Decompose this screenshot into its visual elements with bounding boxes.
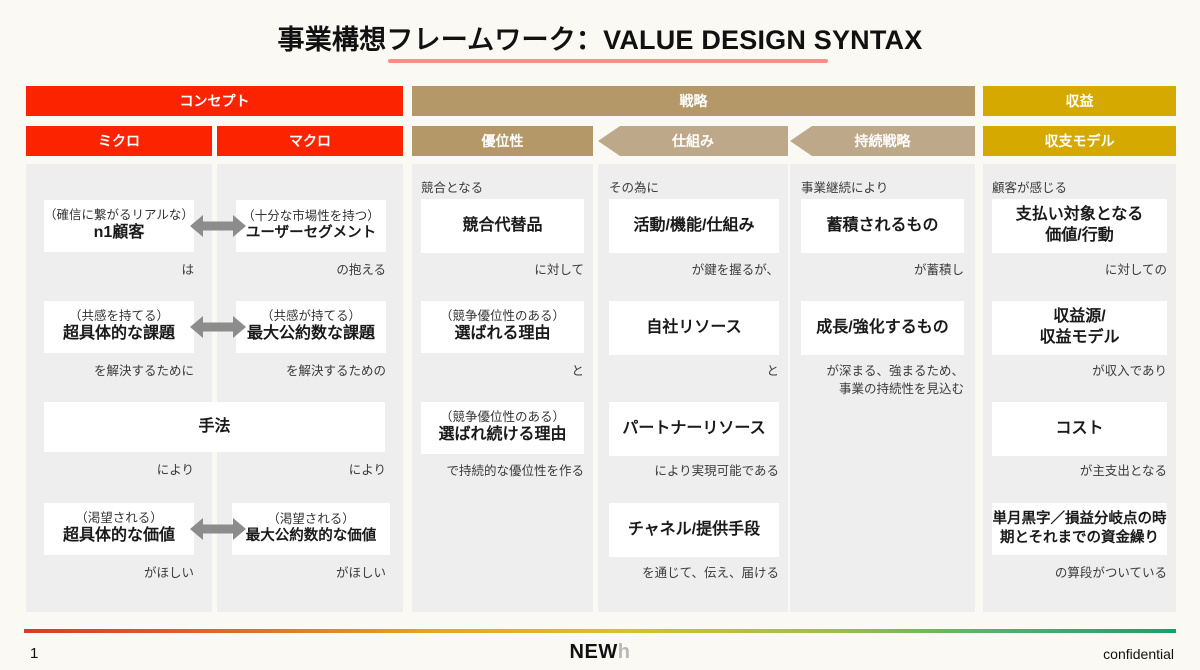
subheader-mechanism[interactable]: 仕組み [598, 126, 788, 156]
card-supplement: （競争優位性のある） [440, 309, 565, 325]
card-supplement: （十分な市場性を持つ） [242, 209, 380, 225]
brand-logo-accent: h [618, 641, 631, 663]
subheader-pl-model[interactable]: 収支モデル [983, 126, 1176, 156]
toplabel-advantage: 競合となる [421, 177, 483, 196]
card-supplement: （渇望される） [75, 511, 163, 527]
caption-sustain-2-line2: 事業の持続性を見込む [796, 381, 964, 398]
slide-canvas: 事業構想フレームワーク：VALUE DESIGN SYNTAX コンセプト 戦略… [0, 0, 1200, 670]
card-sustain-growth[interactable]: 成長/強化するもの [801, 301, 964, 355]
caption-mechanism-2: と [609, 363, 779, 380]
card-pl-payment-value[interactable]: 支払い対象となる 価値/行動 [992, 199, 1167, 253]
card-title-line2: 収益モデル [1039, 328, 1119, 349]
card-title: コスト [1055, 419, 1103, 440]
card-title: 最大公約数的な価値 [246, 527, 377, 546]
card-shared-method[interactable]: 手法 [44, 402, 385, 452]
page-title: 事業構想フレームワーク：VALUE DESIGN SYNTAX [0, 18, 1200, 57]
card-supplement: （共感を持てる） [69, 309, 169, 325]
card-title: 超具体的な課題 [63, 324, 175, 345]
group-header-strategy[interactable]: 戦略 [412, 86, 975, 116]
caption-micro-3: により [44, 462, 194, 479]
caption-mechanism-4: を通じて、伝え、届ける [604, 565, 779, 582]
caption-sustain-1: が蓄積し [801, 262, 964, 279]
toplabel-pl-model: 顧客が感じる [992, 177, 1067, 196]
card-title-line1: 収益源/ [1053, 307, 1105, 328]
card-title: 競合代替品 [462, 216, 542, 237]
card-mechanism-own-resource[interactable]: 自社リソース [609, 301, 779, 355]
card-title: 蓄積されるもの [826, 216, 938, 237]
card-macro-user-segment[interactable]: （十分な市場性を持つ） ユーザーセグメント [236, 200, 386, 252]
group-header-revenue[interactable]: 収益 [983, 86, 1176, 116]
card-macro-common-issue[interactable]: （共感が持てる） 最大公約数な課題 [236, 301, 386, 353]
caption-pl-2: が収入であり [992, 363, 1167, 380]
group-header-concept[interactable]: コンセプト [26, 86, 403, 116]
card-title: 選ばれる理由 [454, 324, 550, 345]
caption-macro-2: を解決するための [226, 363, 386, 380]
card-advantage-reason-continued[interactable]: （競争優位性のある） 選ばれ続ける理由 [421, 402, 584, 454]
card-title: チャネル/提供手段 [628, 520, 760, 541]
caption-macro-1: の抱える [236, 262, 386, 279]
card-micro-specific-value[interactable]: （渇望される） 超具体的な価値 [44, 503, 194, 555]
caption-micro-2: を解決するために [34, 363, 194, 380]
subheader-micro[interactable]: ミクロ [26, 126, 212, 156]
double-arrow-icon-row2 [190, 313, 246, 341]
subheader-macro[interactable]: マクロ [217, 126, 403, 156]
card-pl-revenue-source[interactable]: 収益源/ 収益モデル [992, 301, 1167, 355]
card-title: 手法 [198, 417, 230, 438]
caption-micro-1: は [44, 262, 194, 279]
card-title: 最大公約数な課題 [247, 324, 375, 345]
caption-mechanism-1: が鍵を握るが、 [609, 262, 779, 279]
title-underline-rule [388, 59, 828, 63]
card-mechanism-partner-resource[interactable]: パートナーリソース [609, 402, 779, 456]
subheader-advantage[interactable]: 優位性 [412, 126, 593, 156]
card-micro-specific-issue[interactable]: （共感を持てる） 超具体的な課題 [44, 301, 194, 353]
card-title: ユーザーセグメント [246, 224, 376, 243]
caption-macro-3: により [236, 462, 386, 479]
caption-pl-4: の算段がついている [992, 565, 1167, 582]
caption-pl-1: に対しての [992, 262, 1167, 279]
caption-advantage-1: に対して [421, 262, 584, 279]
card-title: n1顧客 [94, 223, 145, 244]
toplabel-sustain: 事業継続により [801, 177, 888, 196]
card-title-line1: 支払い対象となる [1016, 205, 1144, 226]
page-title-container: 事業構想フレームワーク：VALUE DESIGN SYNTAX [0, 18, 1200, 57]
card-title: 成長/強化するもの [816, 318, 948, 339]
card-advantage-substitutes[interactable]: 競合代替品 [421, 199, 584, 253]
card-title-line1: 単月黒字／損益分岐点の時 [993, 510, 1167, 529]
caption-mechanism-3: により実現可能である [604, 463, 779, 480]
card-sustain-accumulated[interactable]: 蓄積されるもの [801, 199, 964, 253]
card-pl-cost[interactable]: コスト [992, 402, 1167, 456]
card-micro-n1-customer[interactable]: （確信に繋がるリアルな） n1顧客 [44, 200, 194, 252]
card-pl-breakeven[interactable]: 単月黒字／損益分岐点の時 期とそれまでの資金繰り [992, 503, 1167, 555]
confidential-label: confidential [1103, 646, 1174, 662]
brand-logo: NEWh [0, 641, 1200, 664]
caption-advantage-3: で持続的な優位性を作る [416, 463, 584, 480]
card-title: 自社リソース [646, 318, 741, 339]
card-title: パートナーリソース [622, 419, 765, 440]
footer-gradient-rule [24, 629, 1176, 633]
caption-micro-4: がほしい [44, 565, 194, 582]
card-supplement: （競争優位性のある） [440, 410, 565, 426]
card-advantage-reason-chosen[interactable]: （競争優位性のある） 選ばれる理由 [421, 301, 584, 353]
toplabel-mechanism: その為に [609, 177, 659, 196]
subheader-sustain[interactable]: 持続戦略 [790, 126, 975, 156]
card-title: 活動/機能/仕組み [634, 216, 755, 237]
card-title: 超具体的な価値 [63, 526, 175, 547]
double-arrow-icon-row3 [190, 515, 246, 543]
card-title-line2: 価値/行動 [1045, 226, 1113, 247]
card-supplement: （渇望される） [267, 512, 355, 528]
caption-macro-4: がほしい [236, 565, 386, 582]
card-macro-common-value[interactable]: （渇望される） 最大公約数的な価値 [232, 503, 390, 555]
card-mechanism-channel[interactable]: チャネル/提供手段 [609, 503, 779, 557]
double-arrow-icon-row1 [190, 212, 246, 240]
card-title: 選ばれ続ける理由 [438, 425, 566, 446]
caption-sustain-2-line1: が深まる、強まるため、 [796, 363, 964, 380]
caption-advantage-2: と [421, 363, 584, 380]
caption-pl-3: が主支出となる [992, 463, 1167, 480]
card-supplement: （確信に繋がるリアルな） [44, 208, 194, 224]
card-title-line2: 期とそれまでの資金繰り [1000, 529, 1159, 548]
brand-logo-main: NEW [570, 641, 618, 663]
card-mechanism-activity[interactable]: 活動/機能/仕組み [609, 199, 779, 253]
card-supplement: （共感が持てる） [261, 309, 361, 325]
